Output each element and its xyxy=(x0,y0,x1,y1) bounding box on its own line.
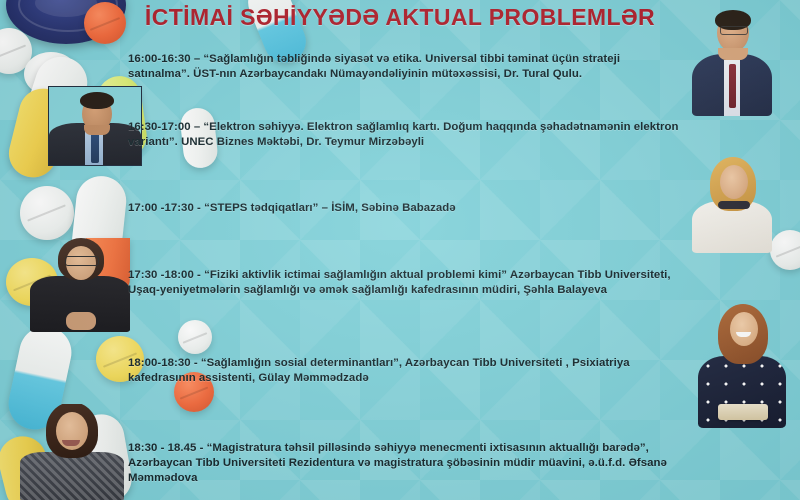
agenda-item-2: 16:30-17:00 – “Elektron səhiyyə. Elektro… xyxy=(128,120,684,150)
speaker-photo-right-upper xyxy=(690,155,774,253)
white-tablet-icon xyxy=(770,230,800,270)
event-poster: İCTİMAİ SƏHİYYƏDƏ AKTUAL PROBLEMLƏR 16:0… xyxy=(0,0,800,500)
white-tablet-icon xyxy=(20,186,74,240)
agenda-item-4: 17:30 -18:00 - “Fiziki aktivlik ictimai … xyxy=(128,268,690,298)
agenda-item-1: 16:00-16:30 – “Sağlamlığın təbliğində si… xyxy=(128,52,684,82)
agenda-list: 16:00-16:30 – “Sağlamlığın təbliğində si… xyxy=(128,0,688,500)
agenda-item-3: 17:00 -17:30 - “STEPS tədqiqatları” – İS… xyxy=(128,201,628,216)
white-tablet-icon xyxy=(0,28,32,74)
speaker-photo-right-lower xyxy=(698,300,786,428)
agenda-item-6: 18:30 - 18.45 - “Magistratura təhsil pil… xyxy=(128,441,690,486)
speaker-photo-left-middle xyxy=(30,236,130,332)
speaker-photo-left-bottom xyxy=(20,404,124,500)
agenda-item-5: 18:00-18:30 - “Sağlamlığın sosial determ… xyxy=(128,356,690,386)
